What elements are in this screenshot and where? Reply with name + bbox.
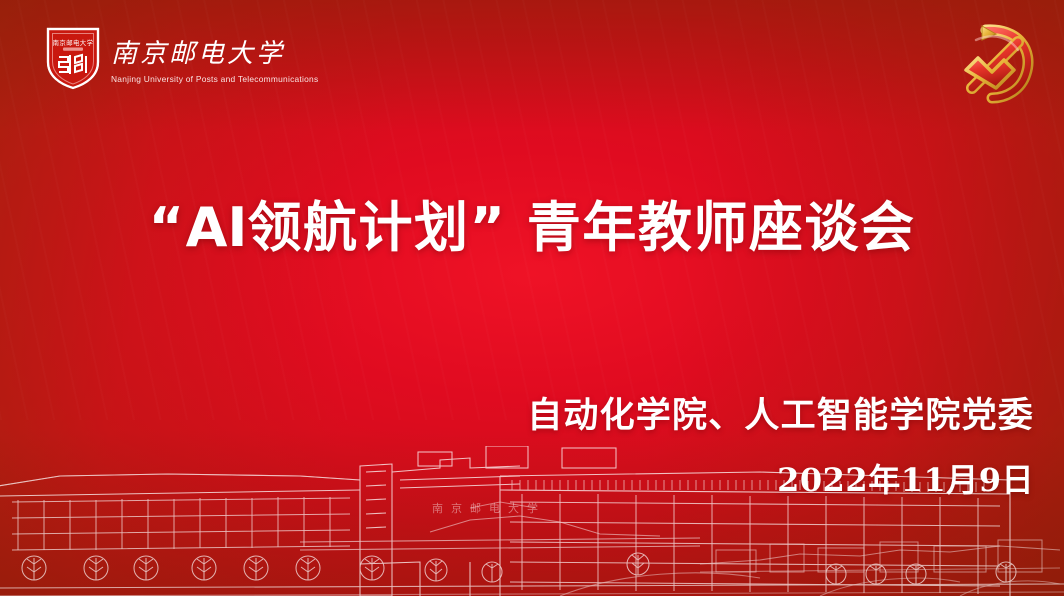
title-event: 青年教师座谈会 bbox=[527, 196, 916, 259]
svg-text:南京邮电大学: 南京邮电大学 bbox=[111, 39, 285, 69]
title-spacer bbox=[507, 196, 527, 259]
university-logo: 南京邮电大学 南京邮电大学 Nanjin bbox=[44, 26, 318, 90]
svg-text:南京邮电大学: 南京邮电大学 bbox=[53, 38, 94, 47]
university-logo-wordmark: 南京邮电大学 Nanjing University of Posts and T… bbox=[111, 33, 318, 84]
university-name-cn: 南京邮电大学 bbox=[111, 36, 318, 70]
organizer-line: 自动化学院、人工智能学院党委 bbox=[527, 387, 1034, 438]
title-ai: AI bbox=[186, 196, 248, 259]
campus-building-lineart-icon bbox=[0, 446, 1064, 596]
presentation-slide: 南京邮电大学 南京邮电大学 Nanjin bbox=[0, 0, 1064, 596]
university-name-en: Nanjing University of Posts and Telecomm… bbox=[111, 74, 318, 84]
campus-gate-text: 南京邮电大学 bbox=[432, 500, 546, 516]
cpc-hammer-sickle-emblem-icon bbox=[952, 14, 1044, 110]
title-quote-close: ” bbox=[470, 196, 507, 259]
nupt-shield-crest-icon: 南京邮电大学 bbox=[44, 26, 102, 90]
title-quote-open: “ bbox=[149, 196, 186, 259]
slide-title: “AI领航计划” 青年教师座谈会 bbox=[0, 183, 1064, 262]
title-program: 领航计划 bbox=[248, 196, 470, 259]
